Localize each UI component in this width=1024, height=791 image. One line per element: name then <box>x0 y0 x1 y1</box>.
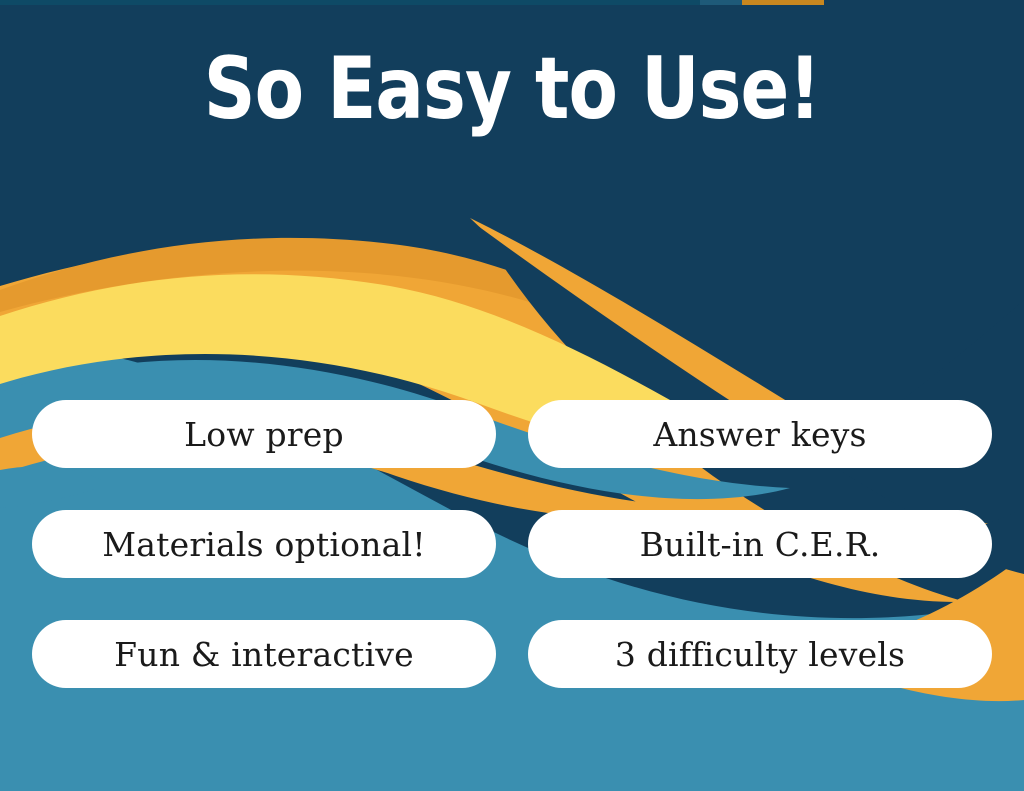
feature-pill-built-in-cer[interactable]: Built-in C.E.R. <box>528 510 992 578</box>
feature-pill-label: Low prep <box>184 418 344 451</box>
feature-pill-label: 3 difficulty levels <box>615 638 905 671</box>
feature-pill-fun-interactive[interactable]: Fun & interactive <box>32 620 496 688</box>
top-progress-strip <box>0 0 1024 5</box>
feature-pill-label: Fun & interactive <box>114 638 414 671</box>
feature-pill-grid: Low prep Answer keys Materials optional!… <box>0 400 1024 688</box>
feature-pill-materials-optional[interactable]: Materials optional! <box>32 510 496 578</box>
feature-pill-difficulty-levels[interactable]: 3 difficulty levels <box>528 620 992 688</box>
feature-pill-answer-keys[interactable]: Answer keys <box>528 400 992 468</box>
slide-canvas: So Easy to Use! Low prep Answer keys Mat… <box>0 0 1024 791</box>
page-title: So Easy to Use! <box>36 46 988 132</box>
top-strip-orange-segment <box>742 0 824 5</box>
feature-pill-label: Answer keys <box>653 418 866 451</box>
feature-pill-low-prep[interactable]: Low prep <box>32 400 496 468</box>
feature-row: Low prep Answer keys <box>0 400 1024 468</box>
feature-pill-label: Built-in C.E.R. <box>640 528 881 561</box>
feature-row: Fun & interactive 3 difficulty levels <box>0 620 1024 688</box>
top-strip-dark-segment <box>0 0 700 5</box>
top-strip-blue-segment <box>700 0 742 5</box>
feature-pill-label: Materials optional! <box>102 528 425 561</box>
top-strip-tail-segment <box>824 0 1024 5</box>
feature-row: Materials optional! Built-in C.E.R. <box>0 510 1024 578</box>
